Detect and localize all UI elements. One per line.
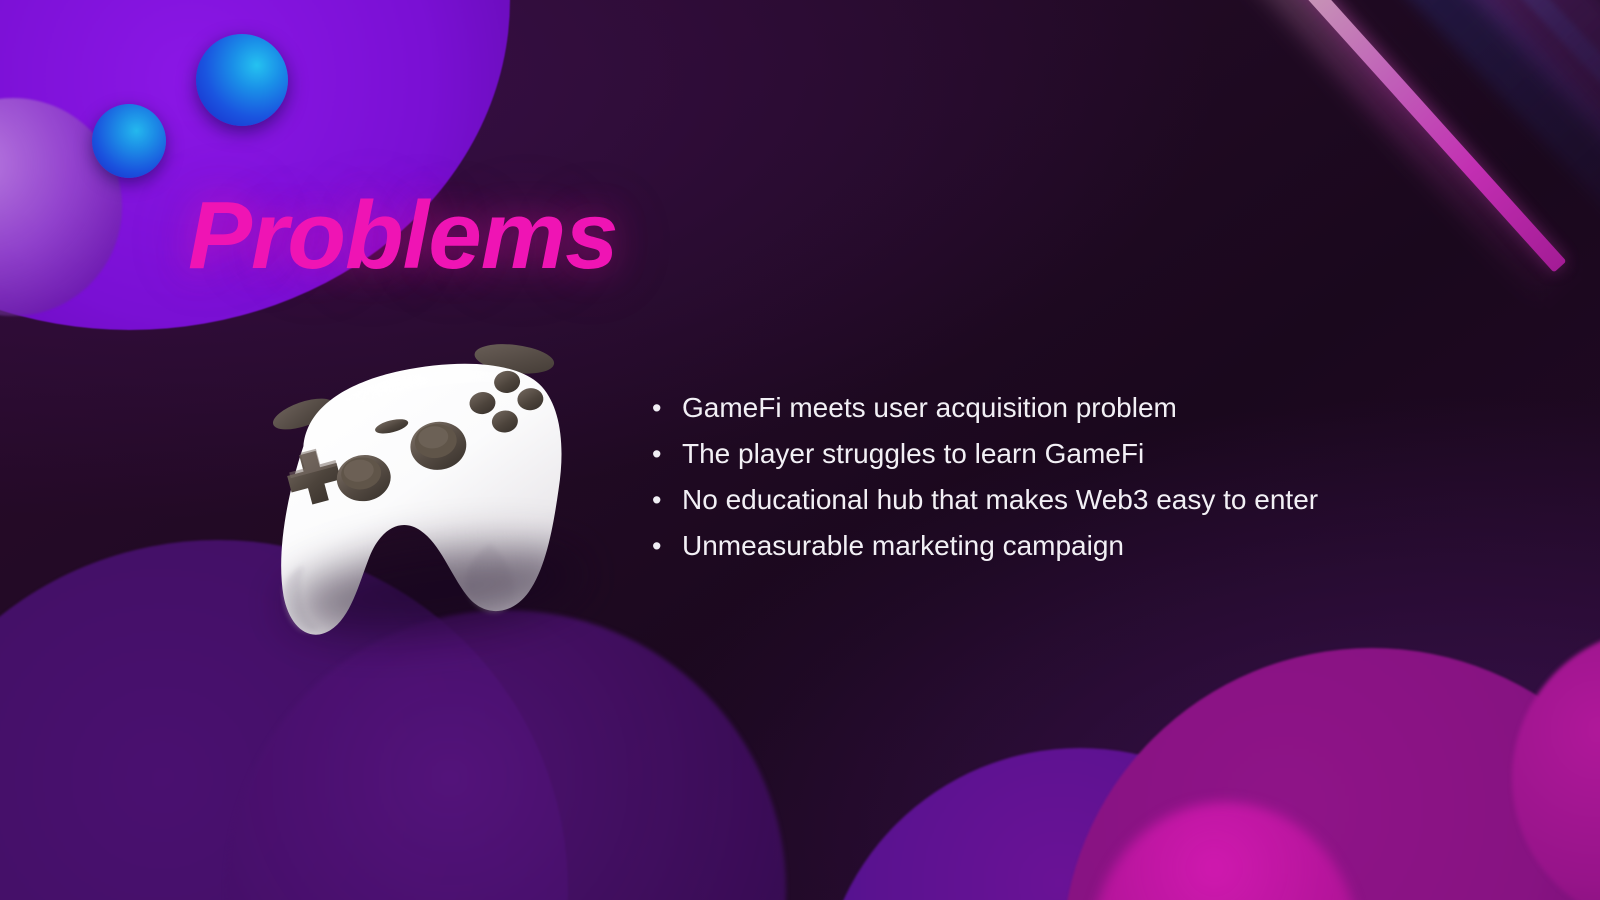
bullet-marker: • — [648, 434, 682, 474]
blue-light-streak-decoration — [1255, 0, 1600, 242]
bottom-blob-overlap-decoration — [1090, 802, 1360, 900]
bullet-text: GameFi meets user acquisition problem — [682, 388, 1177, 428]
bullet-text: Unmeasurable marketing campaign — [682, 526, 1124, 566]
bullet-text: The player struggles to learn GameFi — [682, 434, 1144, 474]
bullet-marker: • — [648, 388, 682, 428]
bullet-list: • GameFi meets user acquisition problem … — [648, 388, 1528, 572]
slide-title: Problems — [188, 186, 617, 287]
presentation-slide: Problems — [0, 0, 1600, 900]
blue-sphere-small-decoration — [92, 104, 166, 178]
game-controller-illustration — [230, 318, 615, 668]
list-item: • No educational hub that makes Web3 eas… — [648, 480, 1528, 520]
bullet-marker: • — [648, 526, 682, 566]
list-item: • Unmeasurable marketing campaign — [648, 526, 1528, 566]
lavender-sphere-decoration — [0, 98, 122, 316]
bottom-indigo-blob-decoration — [820, 748, 1340, 900]
purple-light-streak-decoration — [1322, 0, 1600, 272]
bullet-marker: • — [648, 480, 682, 520]
list-item: • The player struggles to learn GameFi — [648, 434, 1528, 474]
right-edge-magenta-blob-decoration — [1512, 628, 1600, 900]
blue-sphere-large-decoration — [196, 34, 288, 126]
bottom-right-magenta-blob-decoration — [1062, 648, 1600, 900]
light-beam-glow-decoration — [1204, 0, 1573, 298]
thin-light-streak-decoration — [1353, 0, 1600, 198]
bullet-text: No educational hub that makes Web3 easy … — [682, 480, 1318, 520]
list-item: • GameFi meets user acquisition problem — [648, 388, 1528, 428]
light-beam-decoration — [1239, 0, 1566, 273]
